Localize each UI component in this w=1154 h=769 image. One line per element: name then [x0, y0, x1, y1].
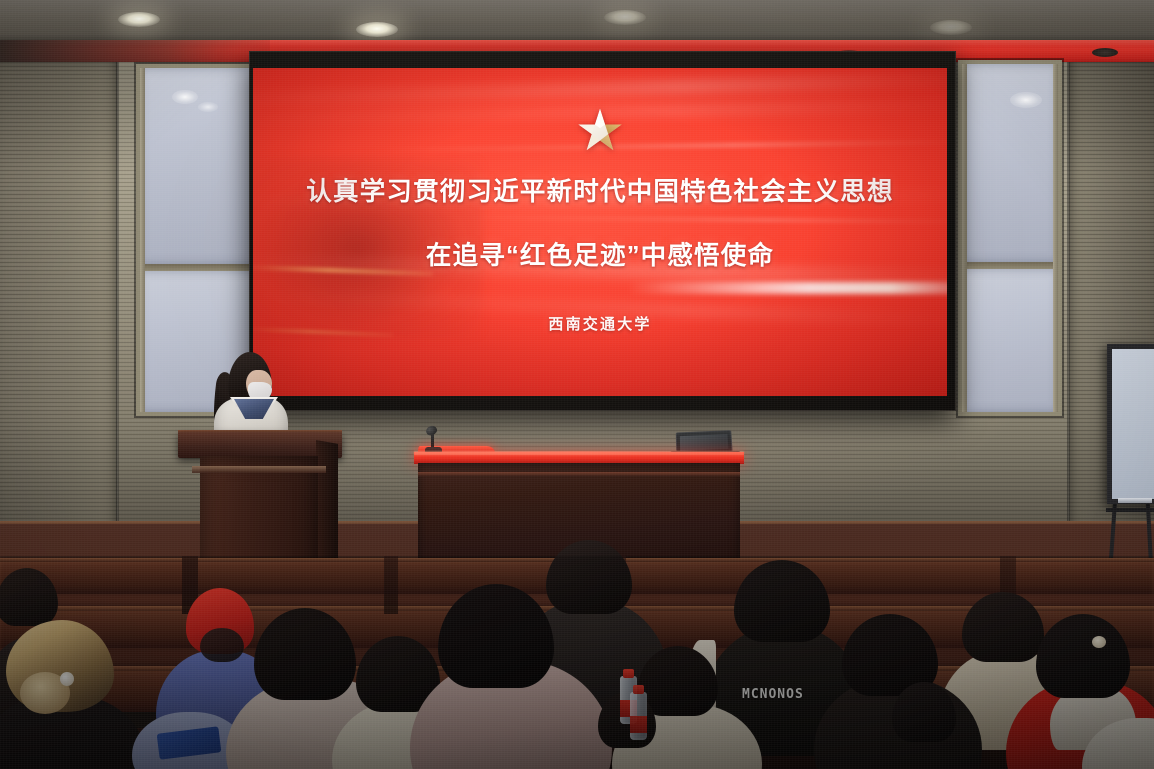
lectern-shelf	[192, 466, 326, 473]
ceiling-downlight-icon	[930, 20, 972, 35]
whiteboard-marker-tray	[1118, 498, 1152, 503]
ceiling-downlight-icon	[118, 12, 160, 27]
audience-head	[200, 628, 244, 662]
water-bottle-icon	[630, 692, 647, 740]
window-mullion	[140, 264, 256, 271]
presidium-table-highlight	[414, 451, 744, 455]
hair-clip-icon	[60, 672, 74, 686]
wall-window-panel-right	[958, 60, 1062, 416]
whiteboard-surface	[1112, 349, 1154, 499]
whiteboard-on-stand	[1107, 344, 1154, 504]
window-mullion	[962, 262, 1058, 269]
laptop-screen	[680, 434, 729, 451]
ceiling-downlight-icon	[604, 10, 646, 25]
window-glass-upper	[962, 64, 1058, 262]
screen-vignette	[253, 68, 947, 396]
window-glass-lower	[962, 269, 1058, 412]
bottle-cap	[633, 685, 644, 694]
window-frame-left	[962, 64, 967, 412]
bottle-label	[630, 716, 647, 733]
led-presentation-screen: 认真学习贯彻习近平新时代中国特色社会主义思想 在追寻“红色足迹”中感悟使命 西南…	[253, 68, 947, 396]
bottle-cap	[623, 669, 634, 678]
window-glass-upper	[140, 68, 256, 264]
jacket-print-text: MCNONOS	[742, 687, 804, 702]
lecture-hall-photo: 认真学习贯彻习近平新时代中国特色社会主义思想 在追寻“红色足迹”中感悟使命 西南…	[0, 0, 1154, 769]
bench-divider	[384, 556, 398, 614]
hair-clip-icon	[1092, 636, 1106, 648]
window-frame-left	[140, 68, 145, 412]
valance-recessed-fixture-icon	[1092, 48, 1118, 57]
window-frame-right	[1053, 64, 1058, 412]
window-glare-icon	[1010, 92, 1042, 108]
ceiling-downlight-icon	[356, 22, 398, 37]
presidium-table-band	[418, 472, 740, 477]
window-glare-icon	[172, 90, 198, 104]
window-glare-icon	[198, 102, 218, 112]
